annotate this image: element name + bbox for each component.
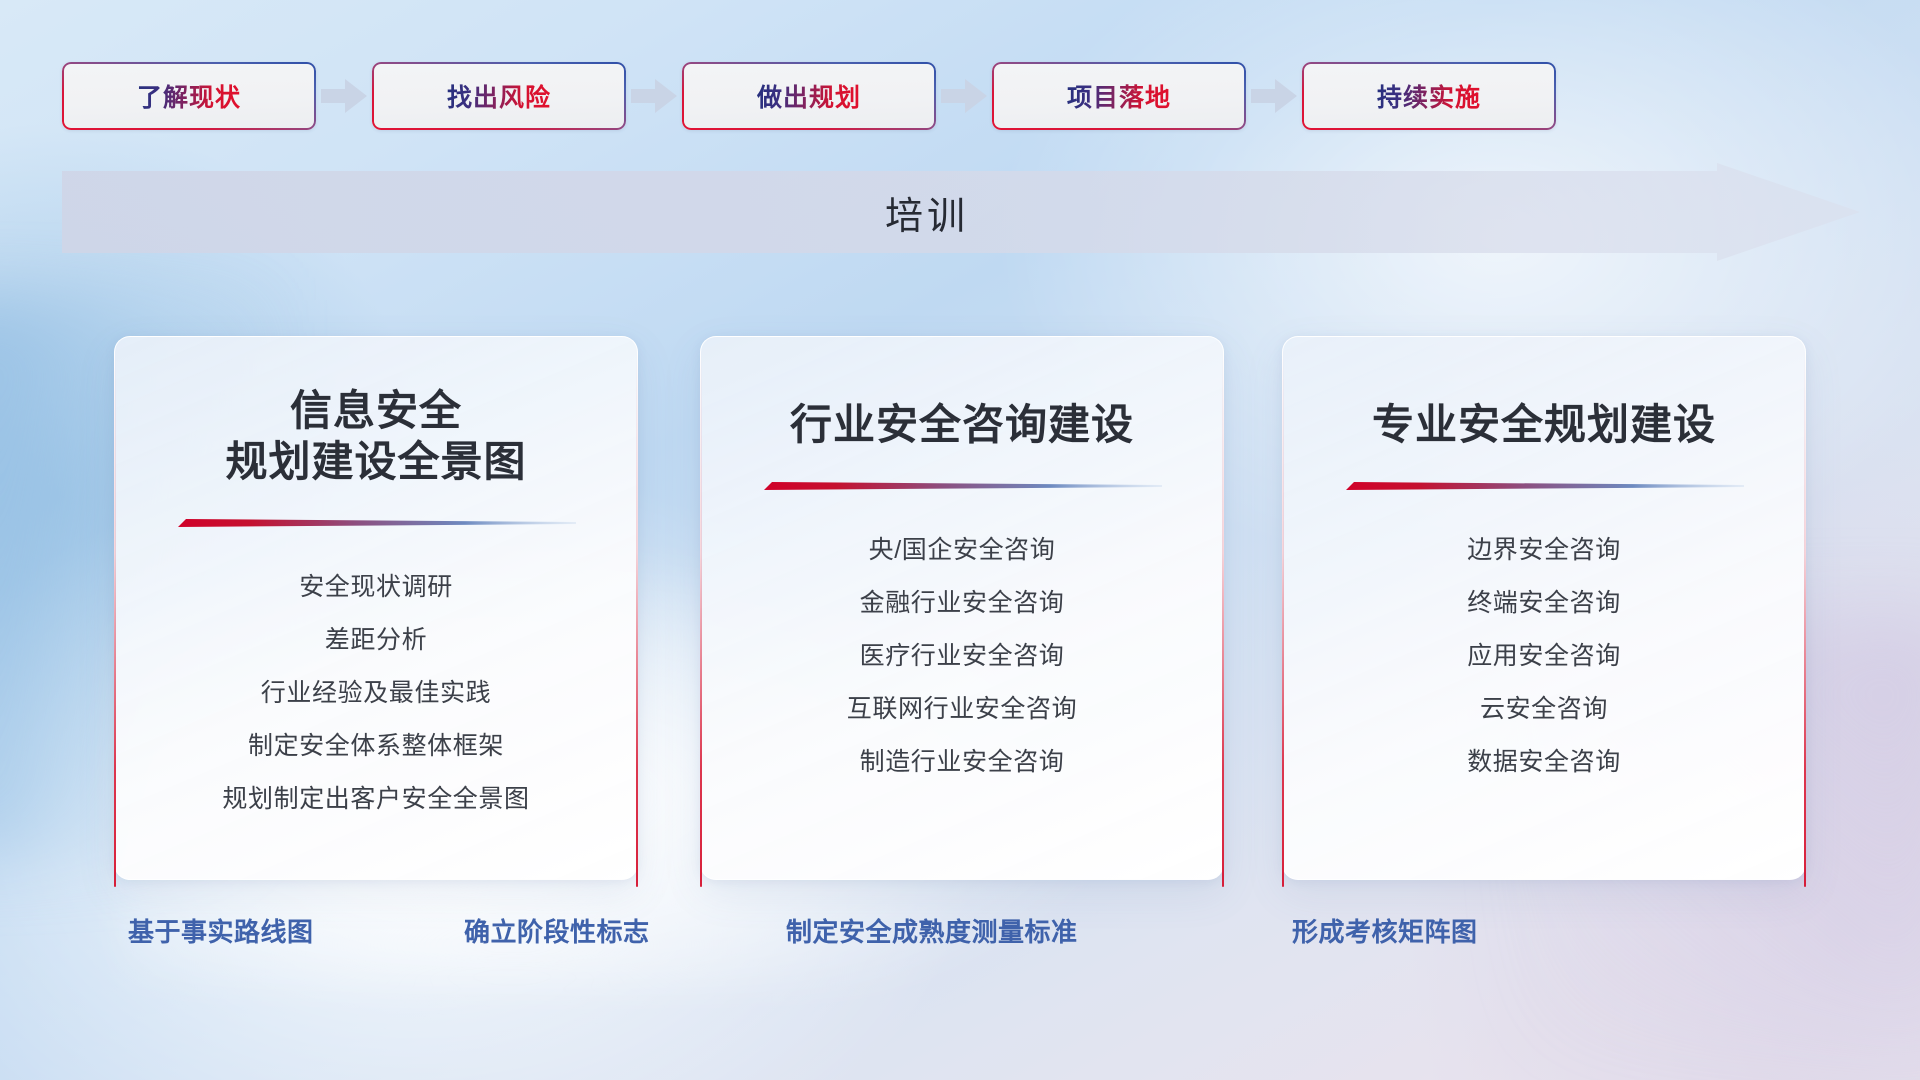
banner-title: 培训 (62, 163, 1792, 261)
list-item: 差距分析 (325, 620, 427, 656)
flow-arrow-icon-1 (316, 62, 372, 130)
card-item-list: 安全现状调研 差距分析 行业经验及最佳实践 制定安全体系整体框架 规划制定出客户… (145, 567, 607, 815)
flow-step-5[interactable]: 持续实施 (1302, 62, 1556, 130)
caption-1: 基于事实路线图 (128, 912, 314, 949)
list-item: 云安全咨询 (1480, 689, 1608, 725)
flow-arrow-icon-3 (936, 62, 992, 130)
list-item: 终端安全咨询 (1467, 583, 1621, 619)
card-divider-icon (176, 517, 576, 529)
caption-2: 确立阶段性标志 (464, 912, 650, 949)
list-item: 应用安全咨询 (1467, 636, 1621, 672)
card-divider-icon (1344, 480, 1744, 492)
card-item-list: 央/国企安全咨询 金融行业安全咨询 医疗行业安全咨询 互联网行业安全咨询 制造行… (731, 530, 1193, 778)
service-card-2[interactable]: 行业安全咨询建设 央/国企安全咨询 (700, 336, 1224, 880)
list-item: 数据安全咨询 (1467, 742, 1621, 778)
flow-step-label: 项目落地 (1067, 78, 1171, 114)
flow-step-1[interactable]: 了解现状 (62, 62, 316, 130)
list-item: 金融行业安全咨询 (860, 583, 1065, 619)
list-item: 规划制定出客户安全全景图 (222, 779, 529, 815)
process-flow-steps: 了解现状 找出风险 做出规划 项目落地 持续实施 (62, 62, 1858, 130)
flow-step-2[interactable]: 找出风险 (372, 62, 626, 130)
flow-step-label: 找出风险 (447, 78, 551, 114)
list-item: 医疗行业安全咨询 (860, 636, 1065, 672)
flow-step-label: 做出规划 (757, 78, 861, 114)
flow-arrow-icon-2 (626, 62, 682, 130)
caption-4: 形成考核矩阵图 (1292, 912, 1478, 949)
flow-step-label: 持续实施 (1377, 78, 1481, 114)
list-item: 制造行业安全咨询 (860, 742, 1065, 778)
list-item: 互联网行业安全咨询 (847, 689, 1077, 725)
service-cards: 信息安全 规划建设全景图 安全现状调研 (0, 336, 1920, 880)
bottom-captions: 基于事实路线图 确立阶段性标志 制定安全成熟度测量标准 形成考核矩阵图 (0, 912, 1920, 972)
service-card-1[interactable]: 信息安全 规划建设全景图 安全现状调研 (114, 336, 638, 880)
list-item: 央/国企安全咨询 (869, 530, 1056, 566)
card-divider-icon (762, 480, 1162, 492)
caption-3: 制定安全成熟度测量标准 (786, 912, 1078, 949)
list-item: 行业经验及最佳实践 (261, 673, 491, 709)
flow-arrow-icon-4 (1246, 62, 1302, 130)
flow-step-4[interactable]: 项目落地 (992, 62, 1246, 130)
card-item-list: 边界安全咨询 终端安全咨询 应用安全咨询 云安全咨询 数据安全咨询 (1313, 530, 1775, 778)
list-item: 安全现状调研 (299, 567, 453, 603)
flow-step-3[interactable]: 做出规划 (682, 62, 936, 130)
service-card-3[interactable]: 专业安全规划建设 边界安全咨询 (1282, 336, 1806, 880)
training-banner: 培训 (62, 163, 1860, 261)
flow-step-label: 了解现状 (137, 78, 241, 114)
list-item: 边界安全咨询 (1467, 530, 1621, 566)
card-title: 行业安全咨询建设 (790, 399, 1134, 450)
card-title: 专业安全规划建设 (1372, 399, 1716, 450)
card-title: 信息安全 规划建设全景图 (225, 385, 526, 487)
list-item: 制定安全体系整体框架 (248, 726, 504, 762)
